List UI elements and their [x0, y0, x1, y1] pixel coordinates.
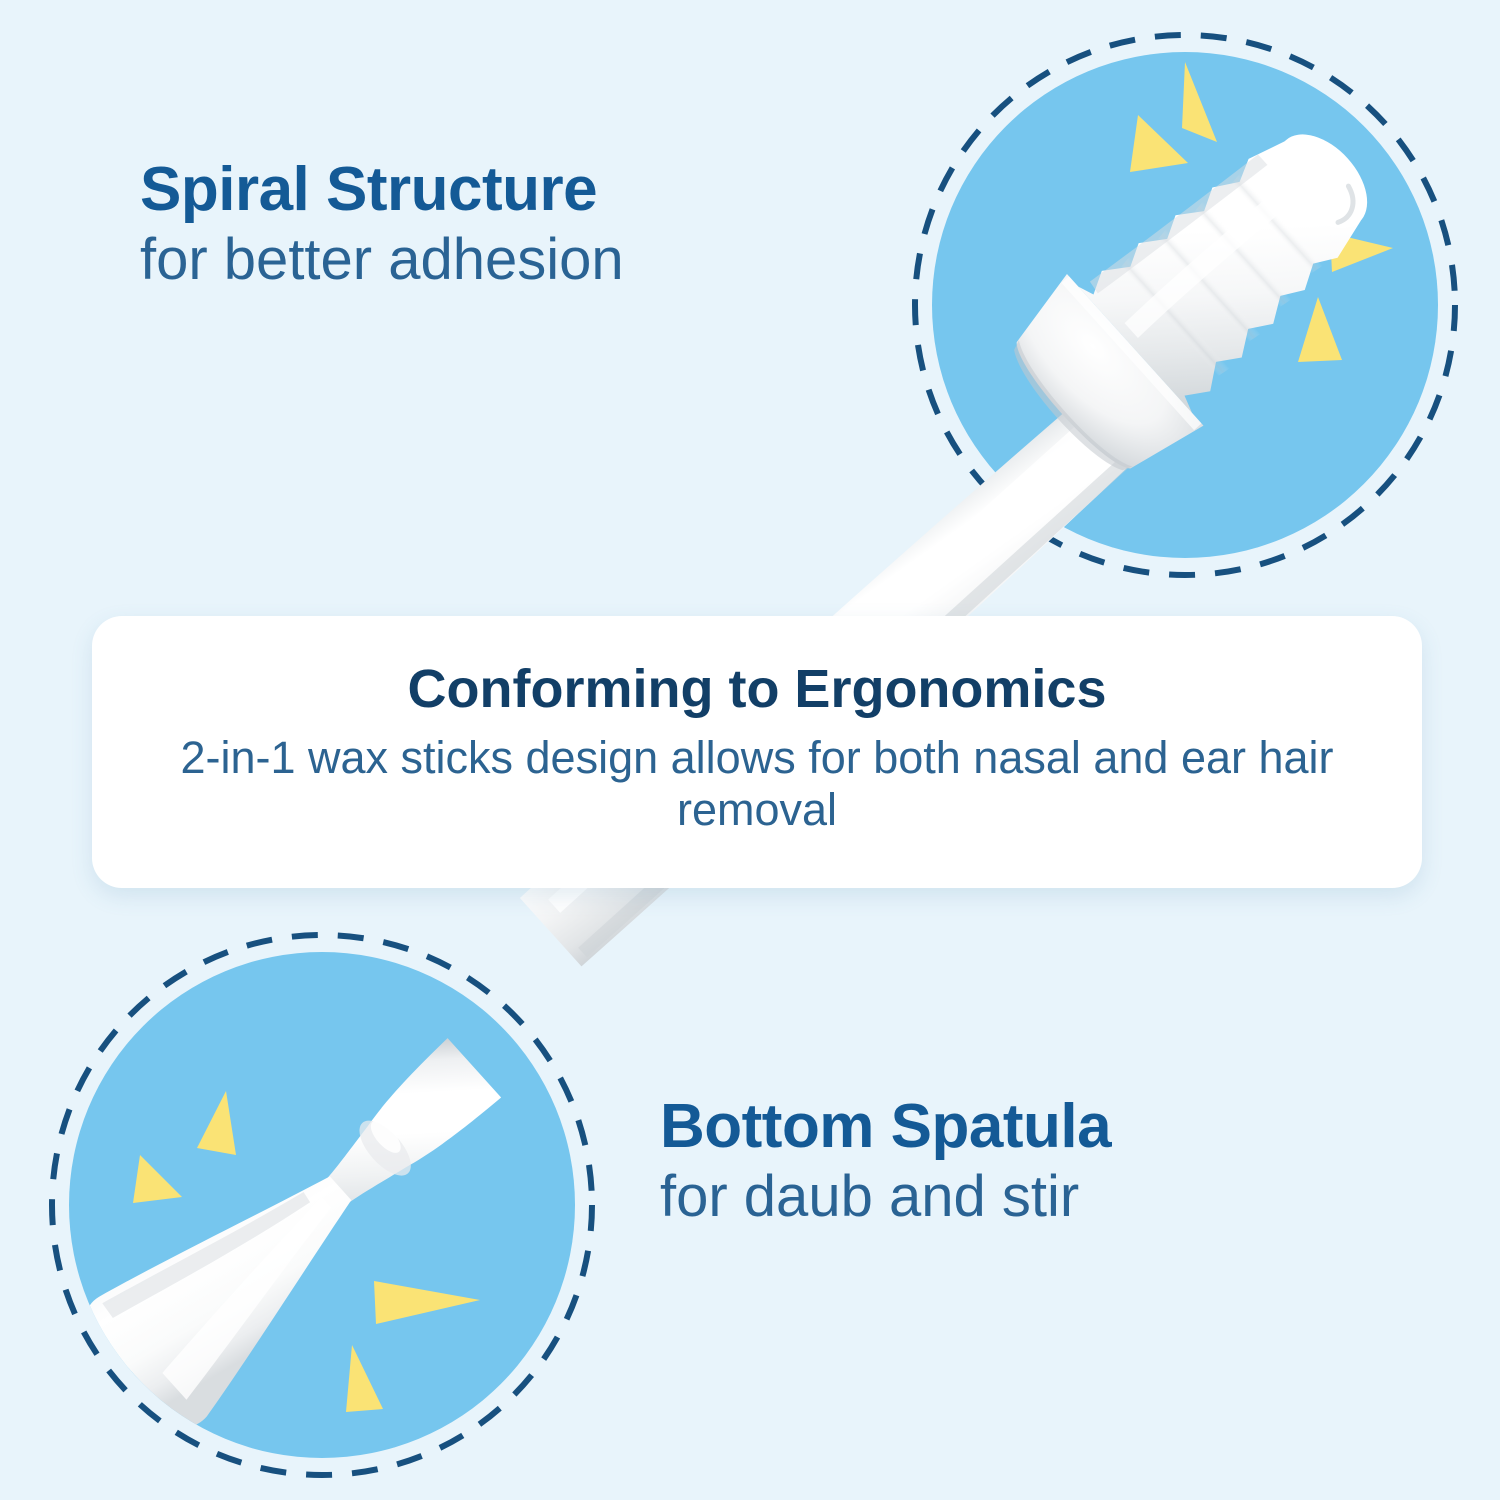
- feature-bottom-title: Bottom Spatula: [660, 1095, 1380, 1159]
- card-title: Conforming to Ergonomics: [408, 661, 1107, 718]
- feature-bottom-subtitle: for daub and stir: [660, 1165, 1380, 1230]
- feature-top-subtitle: for better adhesion: [140, 228, 900, 293]
- feature-headline-top: Spiral Structure for better adhesion: [140, 158, 900, 293]
- infographic-canvas: Spiral Structure for better adhesion Con…: [0, 0, 1500, 1500]
- ergonomics-info-card: Conforming to Ergonomics 2-in-1 wax stic…: [92, 616, 1422, 888]
- feature-headline-bottom: Bottom Spatula for daub and stir: [660, 1095, 1380, 1230]
- feature-top-title: Spiral Structure: [140, 158, 900, 222]
- card-body-text: 2-in-1 wax sticks design allows for both…: [122, 732, 1392, 837]
